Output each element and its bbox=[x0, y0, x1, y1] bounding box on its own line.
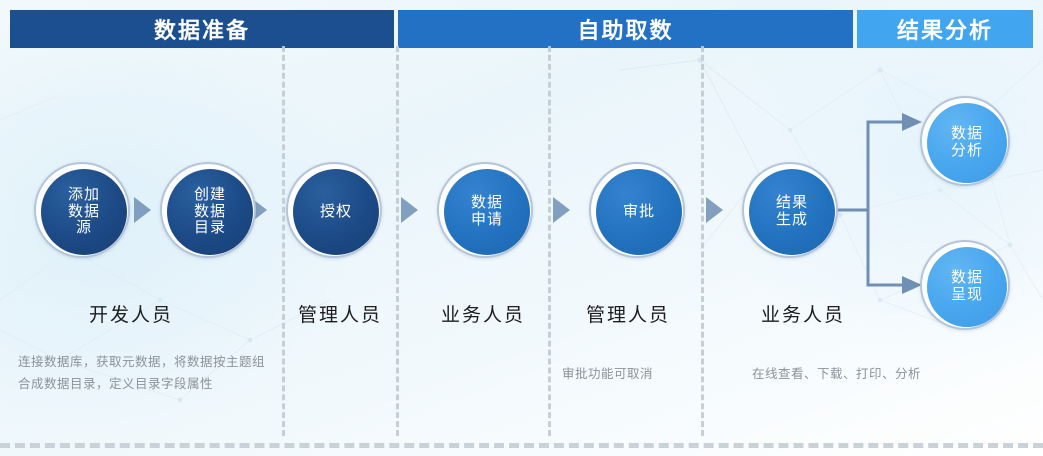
phase-banner-label: 结果分析 bbox=[897, 13, 993, 45]
description-approval: 审批功能可取消 bbox=[562, 364, 732, 386]
phase-banner-data-preparation: 数据准备 bbox=[10, 10, 394, 48]
node-label-line: 结果 bbox=[776, 195, 808, 212]
node-label-line: 数据 bbox=[194, 204, 226, 221]
node-label-line: 审批 bbox=[623, 204, 655, 221]
node-circle: 结果 生成 bbox=[749, 169, 835, 255]
column-divider-3 bbox=[548, 46, 551, 436]
node-label-line: 数据 bbox=[951, 270, 983, 287]
node-circle: 数据 分析 bbox=[927, 103, 1007, 183]
node-authorize[interactable]: 授权 bbox=[286, 162, 382, 258]
node-circle: 授权 bbox=[293, 169, 379, 255]
node-label-line: 目录 bbox=[194, 220, 226, 237]
node-circle: 添加 数据 源 bbox=[41, 169, 127, 255]
node-label-line: 数据 bbox=[471, 195, 503, 212]
flow-arrow-1 bbox=[134, 197, 151, 223]
node-add-datasource[interactable]: 添加 数据 源 bbox=[34, 162, 130, 258]
role-label-admin-2: 管理人员 bbox=[586, 300, 670, 327]
node-label-line: 分析 bbox=[951, 143, 983, 160]
bottom-dashed-rule bbox=[0, 443, 1043, 448]
role-text: 管理人员 bbox=[298, 305, 382, 326]
node-label-line: 申请 bbox=[471, 212, 503, 229]
node-label-line: 生成 bbox=[776, 212, 808, 229]
role-text: 开发人员 bbox=[89, 305, 173, 326]
node-circle: 数据 呈现 bbox=[927, 247, 1007, 327]
node-data-analysis[interactable]: 数据 分析 bbox=[920, 96, 1010, 186]
node-create-catalog[interactable]: 创建 数据 目录 bbox=[160, 162, 256, 258]
phase-banner-self-service-query: 自助取数 bbox=[398, 10, 853, 48]
description-data-preparation: 连接数据库，获取元数据，将数据按主题组合成数据目录，定义目录字段属性 bbox=[18, 352, 268, 396]
node-data-present[interactable]: 数据 呈现 bbox=[920, 240, 1010, 330]
process-flow-diagram: 数据准备 自助取数 结果分析 添加 数据 源 创建 数据 目录 bbox=[0, 0, 1043, 456]
flow-arrow-4 bbox=[553, 197, 570, 223]
role-text: 业务人员 bbox=[761, 305, 845, 326]
node-label-line: 授权 bbox=[320, 204, 352, 221]
node-circle: 数据 申请 bbox=[444, 169, 530, 255]
node-result-generate[interactable]: 结果 生成 bbox=[742, 162, 838, 258]
column-divider-2 bbox=[396, 46, 399, 436]
role-text: 业务人员 bbox=[441, 305, 525, 326]
role-label-admin-1: 管理人员 bbox=[298, 300, 382, 327]
role-label-developer: 开发人员 bbox=[89, 300, 173, 327]
node-circle: 审批 bbox=[596, 169, 682, 255]
node-label-line: 源 bbox=[76, 220, 92, 237]
node-label-line: 数据 bbox=[68, 204, 100, 221]
node-label-line: 创建 bbox=[194, 187, 226, 204]
flow-arrow-3 bbox=[401, 197, 418, 223]
flow-arrow-5 bbox=[706, 197, 723, 223]
role-text: 管理人员 bbox=[586, 305, 670, 326]
column-divider-1 bbox=[282, 46, 285, 436]
phase-banner-result-analysis: 结果分析 bbox=[857, 10, 1033, 48]
node-label-line: 呈现 bbox=[951, 287, 983, 304]
node-label-line: 数据 bbox=[951, 126, 983, 143]
node-circle: 创建 数据 目录 bbox=[167, 169, 253, 255]
role-label-business-2: 业务人员 bbox=[761, 300, 845, 327]
role-label-business-1: 业务人员 bbox=[441, 300, 525, 327]
phase-banner-label: 自助取数 bbox=[577, 13, 673, 45]
node-approval[interactable]: 审批 bbox=[589, 162, 685, 258]
phase-banner-label: 数据准备 bbox=[154, 13, 250, 45]
description-analysis: 在线查看、下载、打印、分析 bbox=[752, 364, 1002, 386]
node-data-request[interactable]: 数据 申请 bbox=[437, 162, 533, 258]
node-label-line: 添加 bbox=[68, 187, 100, 204]
